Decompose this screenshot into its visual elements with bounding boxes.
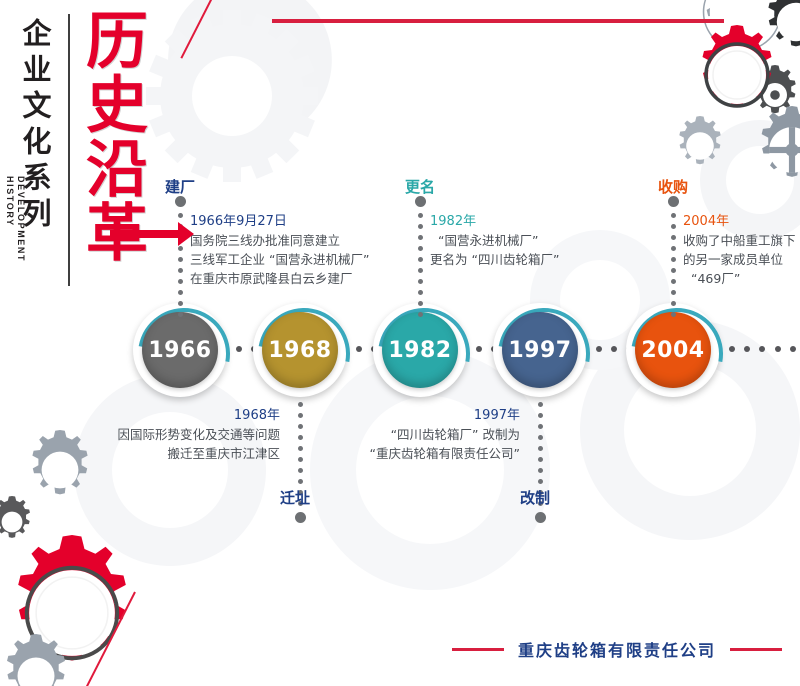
- year-circle-1966[interactable]: 1966: [133, 303, 227, 397]
- year-label-2004: 2004: [635, 312, 711, 388]
- connector-dots-trailing: [775, 346, 800, 352]
- text-block-1982: 更名: [405, 178, 605, 196]
- text-body-2004: 2004年 收购了中船重工旗下 的另一家成员单位 “469厂”: [683, 212, 800, 288]
- date-2004: 2004年: [683, 212, 800, 231]
- detail-line: “四川齿轮箱厂” 改制为: [280, 425, 520, 444]
- title-block: 企业文化系列 DEVELOPMENT HISTORY 历史沿革: [0, 0, 240, 300]
- year-circle-1997[interactable]: 1997: [493, 303, 587, 397]
- year-circle-1982[interactable]: 1982: [373, 303, 467, 397]
- heading-1968: 迁址: [180, 489, 310, 507]
- detail-line: 搬迁至重庆市江津区: [0, 444, 280, 463]
- stem-2004: [670, 196, 677, 317]
- year-circle-1968[interactable]: 1968: [253, 303, 347, 397]
- infographic-canvas: 企业文化系列 DEVELOPMENT HISTORY 历史沿革 1966 建厂 …: [0, 0, 800, 686]
- connector-dots-trailing: [729, 346, 765, 352]
- date-1982: 1982年: [430, 212, 690, 231]
- company-name: 重庆齿轮箱有限责任公司: [504, 637, 730, 661]
- date-1997: 1997年: [280, 406, 520, 425]
- text-body-1997: 1997年 “四川齿轮箱厂” 改制为 “重庆齿轮箱有限责任公司”: [280, 406, 520, 463]
- title-en-line1: DEVELOPMENT: [16, 176, 26, 262]
- year-label-1968: 1968: [262, 312, 338, 388]
- date-1968: 1968年: [0, 406, 280, 425]
- title-arrow-icon: [108, 208, 196, 250]
- footer-rule-left: [452, 648, 504, 651]
- detail-line: “重庆齿轮箱有限责任公司”: [280, 444, 520, 463]
- text-block-1968: 迁址: [180, 489, 310, 507]
- year-label-1982: 1982: [382, 312, 458, 388]
- detail-line: “国营永进机械厂”: [430, 231, 690, 250]
- footer: 重庆齿轮箱有限责任公司: [0, 636, 800, 662]
- text-body-1982: 1982年 “国营永进机械厂” 更名为 “四川齿轮箱厂”: [430, 212, 690, 269]
- detail-line: “469厂”: [683, 269, 800, 288]
- text-block-2004: 收购: [658, 178, 798, 196]
- detail-line: 收购了中船重工旗下: [683, 231, 800, 250]
- footer-rule-right: [730, 648, 782, 651]
- detail-line: 因国际形势变化及交通等问题: [0, 425, 280, 444]
- year-circle-2004[interactable]: 2004: [626, 303, 720, 397]
- title-divider: [68, 14, 70, 286]
- year-label-1966: 1966: [142, 312, 218, 388]
- title-en-line2: HISTORY: [5, 176, 15, 227]
- title-english: DEVELOPMENT HISTORY: [4, 176, 26, 262]
- heading-1997: 改制: [420, 489, 550, 507]
- detail-line: 的另一家成员单位: [683, 250, 800, 269]
- year-label-1997: 1997: [502, 312, 578, 388]
- detail-line: 更名为 “四川齿轮箱厂”: [430, 250, 690, 269]
- text-block-1997: 改制: [420, 489, 550, 507]
- heading-1982: 更名: [405, 178, 605, 196]
- stem-1982: [417, 196, 424, 317]
- heading-2004: 收购: [658, 178, 798, 196]
- text-body-1968: 1968年 因国际形势变化及交通等问题 搬迁至重庆市江津区: [0, 406, 280, 463]
